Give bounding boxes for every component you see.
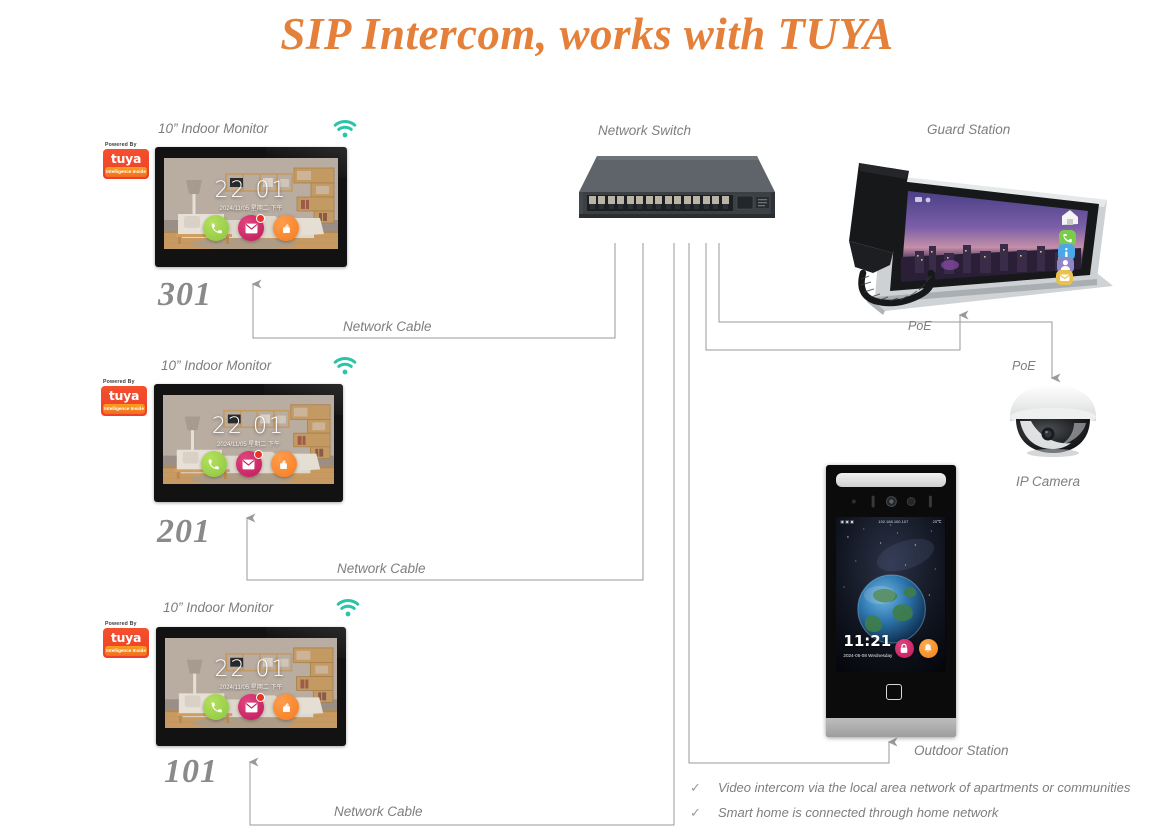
outdoor-station-caption: Outdoor Station: [914, 743, 1009, 758]
tuya-powered-by: Powered By: [101, 379, 147, 386]
network-cable-label: Network Cable: [337, 561, 426, 576]
tuya-powered-by: Powered By: [103, 142, 149, 149]
poe-label-camera: PoE: [1012, 359, 1036, 373]
tuya-wordmark: tuya: [103, 389, 145, 402]
guard-station-caption: Guard Station: [927, 122, 1010, 137]
phone-icon: [207, 458, 220, 471]
unlock-icon: [280, 701, 293, 714]
home-button[interactable]: [886, 684, 902, 700]
room-number: 301: [158, 276, 212, 314]
note-text: Smart home is connected through home net…: [718, 805, 998, 821]
indoor-monitor-caption: 10” Indoor Monitor: [163, 600, 273, 615]
envelope-icon: [245, 223, 258, 234]
status-temp: 25℃: [933, 519, 942, 524]
indoor-monitor-device[interactable]: 22 01 2024/11/05 星期二 下午: [156, 627, 346, 746]
outdoor-light-bar: [836, 473, 945, 487]
monitor-clock: 22 01: [163, 414, 334, 439]
room-number: 101: [164, 753, 218, 791]
monitor-action-row: [163, 451, 334, 477]
message-button[interactable]: [236, 451, 262, 477]
tuya-logo-box: tuya Intelligence Inside: [103, 149, 149, 179]
monitor-screen[interactable]: 22 01 2024/11/05 星期二 下午: [164, 158, 338, 249]
tuya-badge: Powered By tuya Intelligence Inside: [103, 621, 149, 658]
lock-icon: [899, 643, 909, 654]
guard-station-device[interactable]: [845, 145, 1120, 320]
unlock-icon: [280, 222, 293, 235]
outdoor-sensor-row: [842, 492, 941, 511]
monitor-action-row: [164, 215, 338, 241]
unread-badge: [254, 450, 263, 459]
outdoor-date: 2024-05-08 Wednesday: [843, 653, 892, 658]
lock-button[interactable]: [895, 639, 914, 658]
app-icon-call: [1059, 230, 1076, 246]
phone-icon: [210, 701, 223, 714]
tuya-wordmark: tuya: [105, 152, 147, 165]
indoor-monitor-device[interactable]: 22 01 2024/11/05 星期二 下午: [154, 384, 343, 502]
ip-camera-device[interactable]: [1000, 383, 1106, 461]
note-item: ✓ Smart home is connected through home n…: [690, 805, 1130, 821]
monitor-clock: 22 01: [164, 178, 338, 203]
status-icons: ▣ ▣ ▣: [840, 519, 854, 524]
message-button[interactable]: [238, 215, 264, 241]
check-icon: ✓: [690, 780, 700, 796]
message-button[interactable]: [238, 694, 264, 720]
unlock-button[interactable]: [273, 215, 299, 241]
network-switch-device[interactable]: [575, 152, 775, 232]
network-cable-label: Network Cable: [334, 804, 423, 819]
indoor-monitor-device[interactable]: 22 01 2024/11/05 星期二 下午: [155, 147, 347, 267]
monitor-screen[interactable]: 22 01 2024/11/05 星期二 下午: [163, 395, 334, 484]
tuya-tagline: Intelligence Inside: [105, 167, 147, 177]
tuya-tagline: Intelligence Inside: [103, 404, 145, 414]
ip-camera-caption: IP Camera: [1016, 474, 1080, 489]
tuya-badge: Powered By tuya Intelligence Inside: [103, 142, 149, 179]
monitor-action-row: [165, 694, 337, 720]
bell-button[interactable]: [919, 639, 938, 658]
indoor-monitor-caption: 10” Indoor Monitor: [158, 121, 268, 136]
tuya-wordmark: tuya: [105, 631, 147, 644]
bell-icon: [923, 643, 933, 654]
envelope-icon: [242, 459, 255, 470]
unlock-button[interactable]: [271, 451, 297, 477]
outdoor-base-plate: [826, 718, 956, 737]
call-button[interactable]: [203, 215, 229, 241]
tuya-tagline: Intelligence Inside: [105, 646, 147, 656]
room-number: 201: [157, 513, 211, 551]
status-ip: 192.168.100.107: [878, 519, 908, 524]
monitor-screen[interactable]: 22 01 2024/11/05 星期二 下午: [165, 638, 337, 728]
unlock-button[interactable]: [273, 694, 299, 720]
monitor-date: 2024/11/05 星期二 下午: [165, 682, 337, 691]
tuya-logo-box: tuya Intelligence Inside: [103, 628, 149, 658]
wifi-icon: [333, 119, 357, 139]
app-icon-message: [1056, 270, 1073, 285]
unlock-icon: [277, 458, 290, 471]
unread-badge: [256, 693, 265, 702]
outdoor-screen[interactable]: ▣ ▣ ▣ 192.168.100.107 25℃ 11:21 2024-05-…: [836, 517, 945, 672]
wifi-icon: [333, 356, 357, 376]
poe-label-guard: PoE: [908, 319, 932, 333]
diagram-canvas: SIP Intercom, works with TUYA: [0, 0, 1174, 837]
check-icon: ✓: [690, 805, 700, 821]
outdoor-station-device[interactable]: ▣ ▣ ▣ 192.168.100.107 25℃ 11:21 2024-05-…: [826, 465, 956, 737]
phone-icon: [210, 222, 223, 235]
indoor-monitor-caption: 10” Indoor Monitor: [161, 358, 271, 373]
note-text: Video intercom via the local area networ…: [718, 780, 1130, 796]
monitor-date: 2024/11/05 星期二 下午: [163, 439, 334, 448]
outdoor-clock: 11:21: [843, 632, 891, 650]
tuya-logo-box: tuya Intelligence Inside: [101, 386, 147, 416]
monitor-date: 2024/11/05 星期二 下午: [164, 203, 338, 212]
network-cable-label: Network Cable: [343, 319, 432, 334]
call-button[interactable]: [201, 451, 227, 477]
note-item: ✓ Video intercom via the local area netw…: [690, 780, 1130, 796]
monitor-clock: 22 01: [165, 657, 337, 682]
call-button[interactable]: [203, 694, 229, 720]
tuya-powered-by: Powered By: [103, 621, 149, 628]
envelope-icon: [245, 702, 258, 713]
page-title: SIP Intercom, works with TUYA: [0, 8, 1174, 60]
network-switch-caption: Network Switch: [598, 123, 691, 138]
wifi-icon: [336, 598, 360, 618]
feature-notes: ✓ Video intercom via the local area netw…: [690, 780, 1130, 830]
outdoor-status-bar: ▣ ▣ ▣ 192.168.100.107 25℃: [836, 518, 945, 525]
tuya-badge: Powered By tuya Intelligence Inside: [101, 379, 147, 416]
unread-badge: [256, 214, 265, 223]
